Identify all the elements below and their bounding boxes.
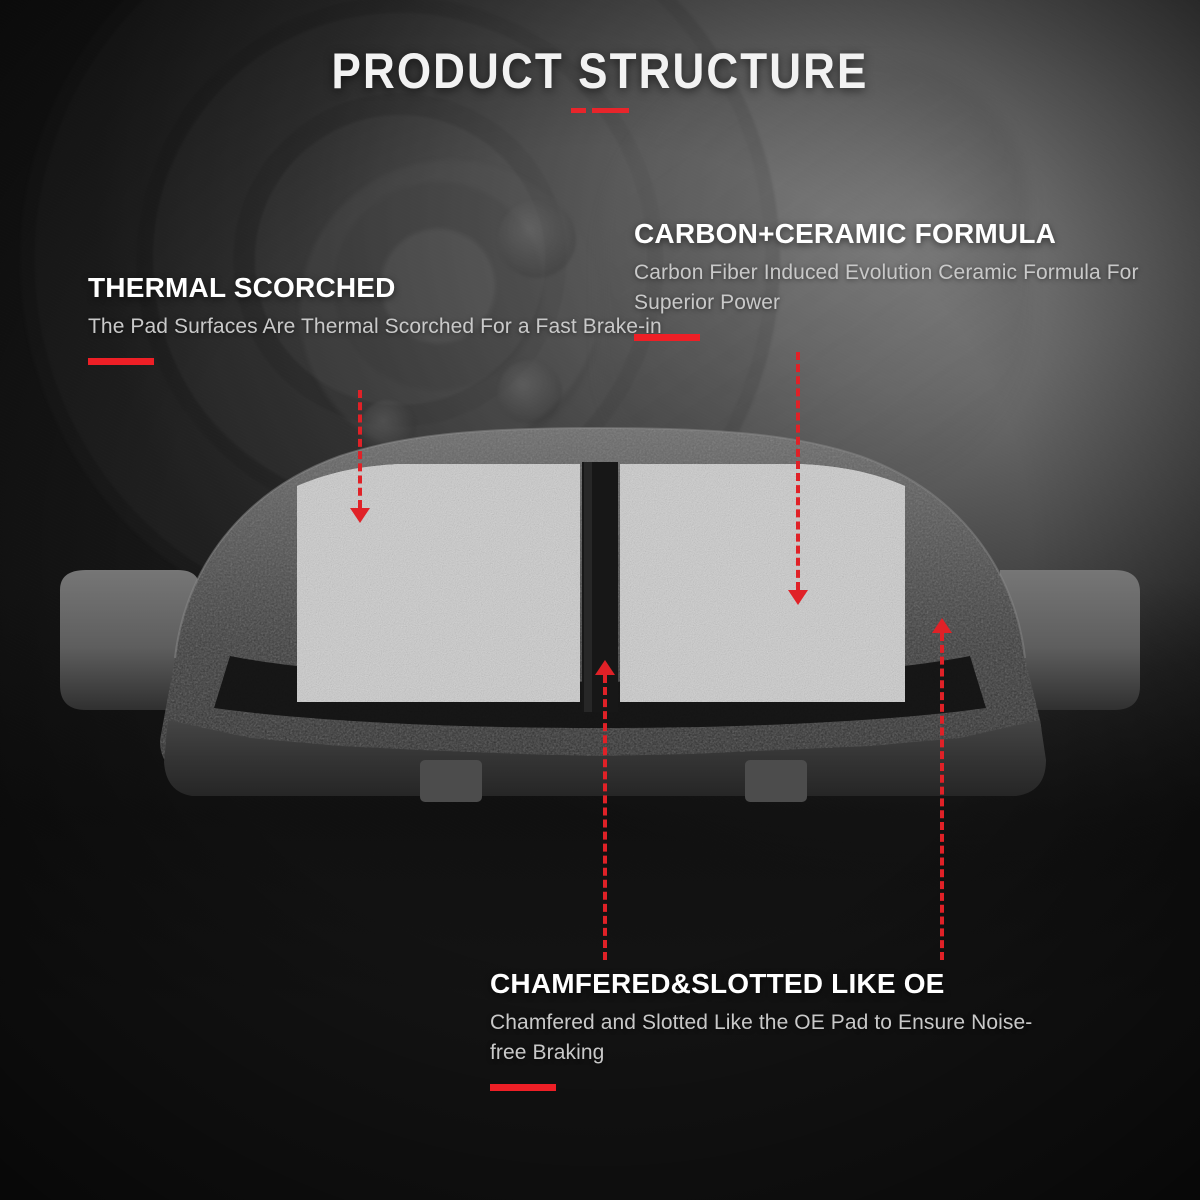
slot-pointer-arrow bbox=[595, 660, 615, 675]
center-slot-shade bbox=[584, 462, 592, 712]
callout-accent-bar bbox=[490, 1084, 556, 1091]
callout-heading: CARBON+CERAMIC FORMULA bbox=[634, 218, 1174, 250]
callout-body: Chamfered and Slotted Like the OE Pad to… bbox=[490, 1008, 1050, 1068]
chamfer-pointer-arrow bbox=[932, 618, 952, 633]
accent-dash-short bbox=[571, 108, 586, 113]
callout-body: The Pad Surfaces Are Thermal Scorched Fo… bbox=[88, 312, 662, 342]
clip-tab-left bbox=[420, 760, 482, 802]
accent-dash-long bbox=[592, 108, 629, 113]
product-structure-infographic: PRODUCT STRUCTURE bbox=[0, 0, 1200, 1200]
carbon-pointer-line bbox=[796, 352, 800, 590]
slot-pointer-line bbox=[603, 675, 607, 960]
callout-body: Carbon Fiber Induced Evolution Ceramic F… bbox=[634, 258, 1174, 318]
carbon-pointer-arrow bbox=[788, 590, 808, 605]
callout-heading: THERMAL SCORCHED bbox=[88, 272, 662, 304]
callout-carbon-ceramic-formula: CARBON+CERAMIC FORMULA Carbon Fiber Indu… bbox=[634, 218, 1174, 341]
page-title: PRODUCT STRUCTURE bbox=[72, 42, 1128, 100]
brake-pad-illustration bbox=[0, 420, 1200, 860]
callout-chamfered-slotted: CHAMFERED&SLOTTED LIKE OE Chamfered and … bbox=[490, 968, 1050, 1091]
chamfer-pointer-line bbox=[940, 633, 944, 960]
callout-accent-bar bbox=[88, 358, 154, 365]
thermal-pointer-line bbox=[358, 390, 362, 508]
callout-accent-bar bbox=[634, 334, 700, 341]
thermal-pointer-arrow bbox=[350, 508, 370, 523]
clip-tab-right bbox=[745, 760, 807, 802]
callout-thermal-scorched: THERMAL SCORCHED The Pad Surfaces Are Th… bbox=[88, 272, 662, 365]
left-friction-texture bbox=[290, 460, 590, 710]
right-friction-texture bbox=[615, 460, 915, 710]
title-accent-rule bbox=[571, 108, 629, 113]
callout-heading: CHAMFERED&SLOTTED LIKE OE bbox=[490, 968, 1050, 1000]
